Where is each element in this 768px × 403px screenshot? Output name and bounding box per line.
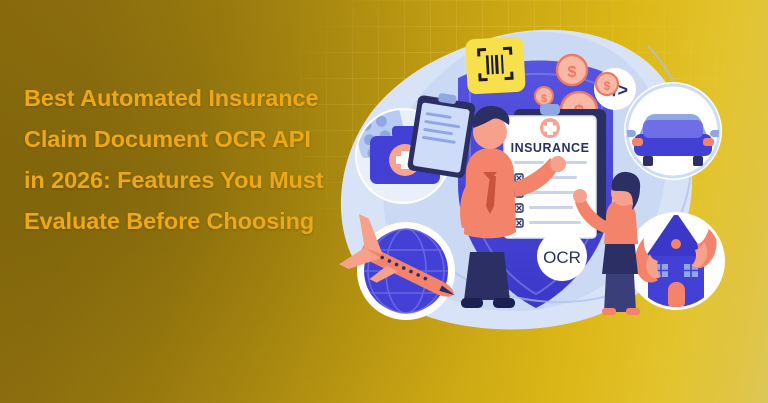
page-title: Best Automated Insurance Claim Document … [24, 78, 324, 242]
house-fire-icon [627, 212, 725, 310]
ocr-badge: OCR [537, 231, 587, 281]
coin: $ [535, 87, 553, 105]
svg-text:$: $ [604, 79, 611, 93]
coin: $ [596, 73, 618, 95]
car-icon [624, 82, 722, 180]
svg-text:$: $ [541, 93, 547, 105]
barcode-scan-card [465, 37, 526, 95]
ocr-badge-label: OCR [543, 248, 581, 267]
document-title: INSURANCE [511, 141, 590, 155]
illustration-svg: </> [318, 6, 768, 366]
hero-illustration: </> [318, 6, 768, 366]
svg-text:$: $ [568, 64, 577, 81]
blog-hero-banner: Best Automated Insurance Claim Document … [0, 0, 768, 403]
coin: $ [557, 55, 587, 85]
